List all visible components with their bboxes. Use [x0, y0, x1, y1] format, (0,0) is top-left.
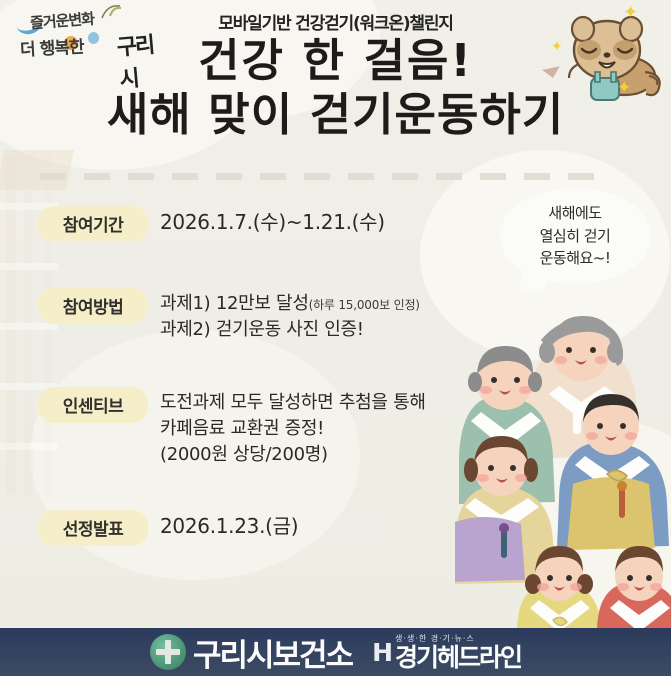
bubble-line2: 열심히 걷기 [540, 227, 611, 245]
press-name: 경기헤드라인 [395, 645, 521, 670]
sparkle-icon: ✦ [551, 40, 563, 54]
poster-header: 즐거운변화 더 행복한 구리시 모바일기반 건강걷기(워크온)챌린지 건강 한 … [0, 0, 671, 170]
bubble-line3: 운동해요~! [540, 249, 611, 267]
press-logo: H 생·생·한 경·기·뉴·스 경기헤드라인 [372, 635, 521, 670]
info-value: 카페음료 교환권 증정! [160, 416, 426, 442]
dashed-divider [40, 173, 600, 180]
sparkle-icon: ✦ [623, 4, 638, 22]
info-row-announcement: 선정발표 2026.1.23.(금) [38, 510, 470, 546]
info-value: 도전과제 모두 달성하면 추첨을 통해 [160, 390, 426, 416]
press-mark-icon: H [372, 638, 390, 667]
info-value: 과제2) 걷기운동 사진 인증! [160, 317, 420, 343]
family-illustration [455, 288, 671, 632]
info-value-note: (하루 15,000보 인정) [309, 298, 420, 312]
health-center-name: 구리시보건소 [193, 630, 352, 675]
speech-bubble: 새해에도 열심히 걷기 운동해요~! [500, 188, 650, 284]
info-value: 2026.1.7.(수)~1.21.(수) [160, 209, 385, 236]
bubble-line1: 새해에도 [548, 204, 601, 222]
raccoon-mascot-icon: ✦ ✦ ✦ [545, 2, 665, 107]
info-list: 참여기간 2026.1.7.(수)~1.21.(수) 참여방법 과제1) 12만… [0, 182, 470, 550]
info-row-method: 참여방법 과제1) 12만보 달성(하루 15,000보 인정) 과제2) 걷기… [38, 288, 470, 343]
info-label-chip: 선정발표 [38, 510, 148, 546]
info-value: 2026.1.23.(금) [160, 513, 298, 540]
sparkle-icon: ✦ [617, 80, 631, 97]
figure-boy [597, 546, 671, 632]
info-value: 과제1) 12만보 달성(하루 15,000보 인정) [160, 291, 420, 317]
info-label-chip: 인센티브 [38, 387, 148, 423]
press-tagline: 생·생·한 경·기·뉴·스 [395, 635, 475, 643]
health-center-logo: 구리시보건소 [150, 630, 352, 675]
info-row-period: 참여기간 2026.1.7.(수)~1.21.(수) [38, 206, 470, 242]
poster-footer: 구리시보건소 H 생·생·한 경·기·뉴·스 경기헤드라인 [0, 628, 671, 676]
info-label-chip: 참여방법 [38, 288, 148, 324]
medical-cross-icon [150, 634, 186, 670]
info-label-chip: 참여기간 [38, 206, 148, 242]
info-value-text: 과제1) 12만보 달성 [160, 293, 309, 314]
info-row-incentive: 인센티브 도전과제 모두 달성하면 추첨을 통해 카페음료 교환권 증정! (2… [38, 387, 470, 468]
info-value: (2000원 상당/200명) [160, 442, 426, 468]
poster-root: 즐거운변화 더 행복한 구리시 모바일기반 건강걷기(워크온)챌린지 건강 한 … [0, 0, 671, 676]
